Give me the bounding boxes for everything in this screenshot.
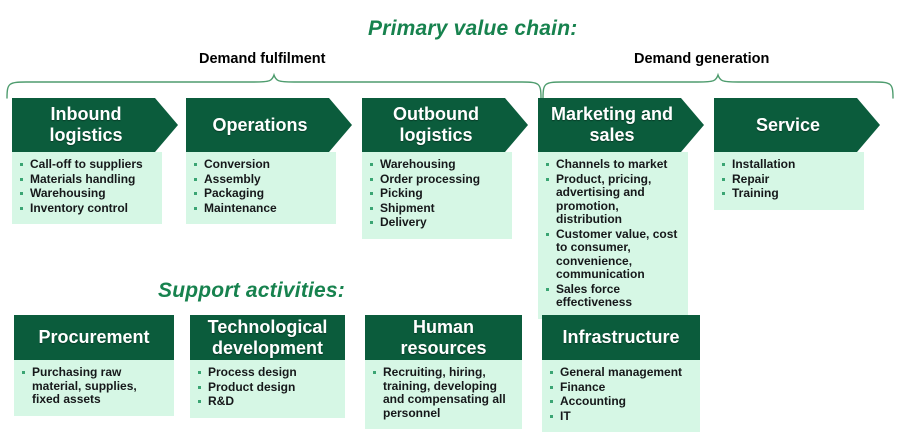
bullet-list: Warehousing Order processing Picking Shi… — [369, 158, 506, 230]
list-item: Picking — [369, 187, 506, 201]
support-header-procurement: Procurement — [14, 315, 174, 360]
list-item: Shipment — [369, 202, 506, 216]
support-header-infrastructure: Infrastructure — [542, 315, 700, 360]
list-item: Warehousing — [19, 187, 156, 201]
chain-body-service: Installation Repair Training — [714, 152, 864, 210]
chain-body-outbound-logistics: Warehousing Order processing Picking Shi… — [362, 152, 512, 239]
support-header-human-resources: Human resources — [365, 315, 522, 360]
chain-header-operations: Operations — [186, 98, 352, 152]
list-item: Installation — [721, 158, 858, 172]
list-item: Product, pricing, advertising and promot… — [545, 173, 682, 227]
support-header-technological-development: Technological development — [190, 315, 345, 360]
list-item: Warehousing — [369, 158, 506, 172]
bullet-list: Purchasing raw material, supplies, fixed… — [21, 366, 168, 407]
bullet-list: Channels to market Product, pricing, adv… — [545, 158, 682, 310]
bullet-list: Recruiting, hiring, training, developing… — [372, 366, 516, 420]
bullet-list: Installation Repair Training — [721, 158, 858, 201]
chain-title-label: Marketing and sales — [551, 104, 691, 146]
list-item: Product design — [197, 381, 339, 395]
chain-body-marketing-and-sales: Channels to market Product, pricing, adv… — [538, 152, 688, 319]
list-item: Finance — [549, 381, 694, 395]
chain-header-marketing-and-sales: Marketing and sales — [538, 98, 704, 152]
chain-block-operations[interactable]: Operations Conversion Assembly Packaging… — [186, 98, 352, 224]
chain-body-operations: Conversion Assembly Packaging Maintenanc… — [186, 152, 336, 224]
list-item: Maintenance — [193, 202, 330, 216]
brace-label-demand-fulfilment: Demand fulfilment — [199, 51, 325, 67]
support-block-infrastructure[interactable]: Infrastructure General management Financ… — [542, 315, 700, 432]
bullet-list: Conversion Assembly Packaging Maintenanc… — [193, 158, 330, 215]
list-item: Materials handling — [19, 173, 156, 187]
list-item: Process design — [197, 366, 339, 380]
list-item: Delivery — [369, 216, 506, 230]
support-block-human-resources[interactable]: Human resources Recruiting, hiring, trai… — [365, 315, 522, 429]
list-item: Call-off to suppliers — [19, 158, 156, 172]
brace-demand-generation — [542, 74, 894, 98]
list-item: Assembly — [193, 173, 330, 187]
support-block-procurement[interactable]: Procurement Purchasing raw material, sup… — [14, 315, 174, 416]
bullet-list: General management Finance Accounting IT — [549, 366, 694, 423]
list-item: Training — [721, 187, 858, 201]
chain-title-label: Service — [756, 115, 838, 136]
support-block-technological-development[interactable]: Technological development Process design… — [190, 315, 345, 418]
primary-value-chain-row: Inbound logistics Call-off to suppliers … — [0, 98, 900, 298]
support-body-procurement: Purchasing raw material, supplies, fixed… — [14, 360, 174, 416]
brace-label-demand-generation: Demand generation — [634, 51, 769, 67]
list-item: Sales force effectiveness — [545, 283, 682, 310]
chain-title-label: Outbound logistics — [393, 104, 497, 146]
list-item: Recruiting, hiring, training, developing… — [372, 366, 516, 420]
chain-header-outbound-logistics: Outbound logistics — [362, 98, 528, 152]
brace-demand-fulfilment — [6, 74, 542, 98]
list-item: General management — [549, 366, 694, 380]
bullet-list: Call-off to suppliers Materials handling… — [19, 158, 156, 215]
list-item: Purchasing raw material, supplies, fixed… — [21, 366, 168, 407]
list-item: R&D — [197, 395, 339, 409]
bullet-list: Process design Product design R&D — [197, 366, 339, 409]
chain-block-outbound-logistics[interactable]: Outbound logistics Warehousing Order pro… — [362, 98, 528, 239]
page-title-primary-value-chain: Primary value chain: — [368, 17, 577, 41]
list-item: Inventory control — [19, 202, 156, 216]
list-item: Packaging — [193, 187, 330, 201]
support-body-human-resources: Recruiting, hiring, training, developing… — [365, 360, 522, 429]
chain-block-marketing-and-sales[interactable]: Marketing and sales Channels to market P… — [538, 98, 704, 319]
support-body-infrastructure: General management Finance Accounting IT — [542, 360, 700, 432]
support-body-technological-development: Process design Product design R&D — [190, 360, 345, 418]
list-item: Channels to market — [545, 158, 682, 172]
list-item: Customer value, cost to consumer, conven… — [545, 228, 682, 282]
list-item: Order processing — [369, 173, 506, 187]
chain-title-label: Inbound logistics — [49, 104, 140, 146]
chain-block-inbound-logistics[interactable]: Inbound logistics Call-off to suppliers … — [12, 98, 178, 224]
chain-header-service: Service — [714, 98, 880, 152]
list-item: Conversion — [193, 158, 330, 172]
chain-header-inbound-logistics: Inbound logistics — [12, 98, 178, 152]
chain-body-inbound-logistics: Call-off to suppliers Materials handling… — [12, 152, 162, 224]
list-item: IT — [549, 410, 694, 424]
chain-title-label: Operations — [212, 115, 325, 136]
chain-block-service[interactable]: Service Installation Repair Training — [714, 98, 880, 210]
list-item: Accounting — [549, 395, 694, 409]
list-item: Repair — [721, 173, 858, 187]
support-activities-row: Procurement Purchasing raw material, sup… — [0, 315, 900, 444]
